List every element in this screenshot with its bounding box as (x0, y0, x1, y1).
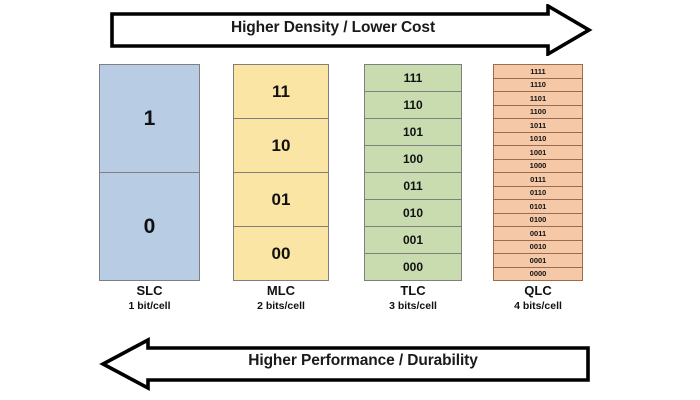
mlc-caption: MLC 2 bits/cell (233, 283, 329, 315)
top-arrow-label: Higher Density / Lower Cost (118, 19, 548, 37)
slc-level-cell: 0 (100, 173, 199, 280)
tlc-level-cell: 000 (365, 254, 461, 280)
mlc-level-cell: 11 (234, 65, 328, 119)
qlc-level-value: 0101 (530, 203, 547, 211)
tlc-level-value: 001 (403, 234, 423, 246)
mlc-level-stack: 11100100 (233, 64, 329, 281)
qlc-level-cell: 0101 (494, 200, 582, 214)
slc-name: SLC (99, 283, 200, 299)
qlc-level-cell: 1010 (494, 133, 582, 147)
qlc-level-value: 0100 (530, 216, 547, 224)
tlc-level-value: 101 (403, 126, 423, 138)
tlc-level-cell: 100 (365, 146, 461, 173)
tlc-level-value: 100 (403, 153, 423, 165)
qlc-level-cell: 1011 (494, 119, 582, 133)
qlc-level-value: 1110 (530, 81, 546, 89)
qlc-level-cell: 1001 (494, 146, 582, 160)
slc-level-cell: 1 (100, 65, 199, 173)
cell-type-column-qlc: 1111111011011100101110101001100001110110… (493, 64, 583, 281)
mlc-level-value: 10 (272, 137, 291, 154)
qlc-level-cell: 1111 (494, 65, 582, 79)
tlc-level-cell: 110 (365, 92, 461, 119)
qlc-level-cell: 0110 (494, 187, 582, 201)
qlc-level-value: 1001 (530, 149, 547, 157)
tlc-bits-per-cell: 3 bits/cell (364, 299, 462, 315)
qlc-level-value: 0000 (530, 270, 547, 278)
tlc-level-cell: 011 (365, 173, 461, 200)
qlc-level-cell: 1100 (494, 106, 582, 120)
qlc-level-value: 0011 (530, 230, 546, 238)
cell-type-column-tlc: 111110101100011010001000 TLC 3 bits/cell (364, 64, 462, 281)
tlc-level-value: 110 (403, 99, 422, 111)
cell-type-column-slc: 10 SLC 1 bit/cell (99, 64, 200, 281)
qlc-level-cell: 0011 (494, 227, 582, 241)
mlc-level-value: 01 (272, 191, 291, 208)
tlc-level-value: 111 (404, 72, 423, 84)
qlc-level-value: 1101 (530, 95, 546, 103)
qlc-level-value: 1010 (530, 135, 547, 143)
slc-level-stack: 10 (99, 64, 200, 281)
tlc-caption: TLC 3 bits/cell (364, 283, 462, 315)
mlc-level-cell: 10 (234, 119, 328, 173)
slc-bits-per-cell: 1 bit/cell (99, 299, 200, 315)
qlc-level-cell: 0001 (494, 254, 582, 268)
slc-level-value: 1 (144, 108, 156, 129)
bottom-arrow-label: Higher Performance / Durability (148, 352, 578, 370)
bottom-arrow-banner: Higher Performance / Durability (0, 336, 700, 394)
slc-level-value: 0 (144, 216, 156, 237)
mlc-bits-per-cell: 2 bits/cell (233, 299, 329, 315)
qlc-level-value: 0001 (530, 257, 547, 265)
cell-type-column-mlc: 11100100 MLC 2 bits/cell (233, 64, 329, 281)
qlc-level-cell: 0100 (494, 214, 582, 228)
tlc-level-cell: 010 (365, 200, 461, 227)
nand-flash-cell-types-diagram: Higher Density / Lower Cost 10 SLC 1 bit… (0, 0, 700, 400)
qlc-level-value: 1011 (530, 122, 546, 130)
qlc-level-cell: 0000 (494, 268, 582, 281)
qlc-level-cell: 1101 (494, 92, 582, 106)
qlc-level-value: 1000 (530, 162, 547, 170)
tlc-level-cell: 101 (365, 119, 461, 146)
qlc-bits-per-cell: 4 bits/cell (493, 299, 583, 315)
qlc-level-stack: 1111111011011100101110101001100001110110… (493, 64, 583, 281)
mlc-level-cell: 01 (234, 173, 328, 227)
qlc-level-value: 1100 (530, 108, 546, 116)
qlc-level-value: 0110 (530, 189, 546, 197)
mlc-level-value: 11 (272, 83, 290, 100)
qlc-level-value: 0010 (530, 243, 547, 251)
mlc-level-value: 00 (272, 245, 291, 262)
tlc-level-value: 000 (403, 261, 423, 273)
qlc-level-value: 0111 (530, 176, 546, 184)
tlc-level-value: 010 (403, 207, 423, 219)
qlc-level-cell: 1110 (494, 79, 582, 93)
mlc-level-cell: 00 (234, 227, 328, 280)
tlc-level-value: 011 (403, 180, 422, 192)
tlc-level-cell: 111 (365, 65, 461, 92)
top-arrow-banner: Higher Density / Lower Cost (0, 4, 700, 56)
mlc-name: MLC (233, 283, 329, 299)
qlc-caption: QLC 4 bits/cell (493, 283, 583, 315)
qlc-level-cell: 0010 (494, 241, 582, 255)
qlc-name: QLC (493, 283, 583, 299)
qlc-level-cell: 1000 (494, 160, 582, 174)
slc-caption: SLC 1 bit/cell (99, 283, 200, 315)
tlc-name: TLC (364, 283, 462, 299)
qlc-level-cell: 0111 (494, 173, 582, 187)
qlc-level-value: 1111 (530, 68, 545, 76)
tlc-level-cell: 001 (365, 227, 461, 254)
tlc-level-stack: 111110101100011010001000 (364, 64, 462, 281)
